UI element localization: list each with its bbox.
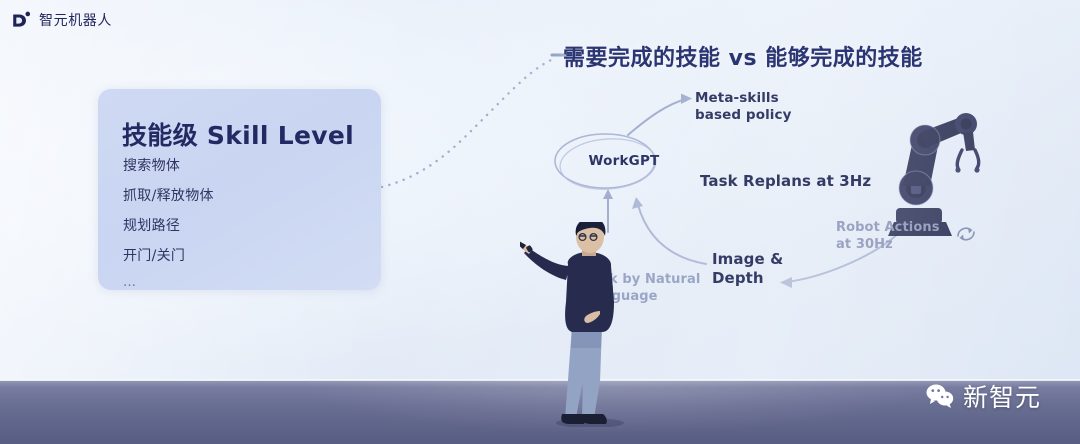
label-task-replans: Task Replans at 3Hz: [700, 172, 871, 191]
skill-item: 规划路径: [123, 215, 214, 235]
label-meta-skills-policy: Meta-skills based policy: [695, 90, 815, 125]
wechat-logo-icon: [925, 383, 955, 409]
skill-level-card: 技能级 Skill Level 搜索物体 抓取/释放物体 规划路径 开门/关门 …: [98, 89, 381, 290]
skill-item: 开门/关门: [123, 245, 214, 265]
skill-item: 抓取/释放物体: [123, 185, 214, 205]
skill-item-ellipsis: …: [123, 275, 214, 290]
brand-name: 智元机器人: [39, 10, 112, 30]
brand-logo: 智元机器人: [10, 9, 112, 31]
workgpt-node-label: WorkGPT: [578, 153, 670, 169]
watermark-text: 新智元: [963, 378, 1041, 414]
label-image-depth: Image & Depth: [712, 250, 792, 288]
skill-card-title: 技能级 Skill Level: [122, 116, 354, 152]
presenter-figure: [520, 222, 650, 427]
skill-item: 搜索物体: [123, 155, 214, 175]
label-robot-actions: Robot Actions at 30Hz: [836, 220, 946, 253]
slide-presentation-scene: 智元机器人 技能级 Skill Level 搜索物体 抓取/释放物体 规划路径 …: [0, 0, 1080, 444]
agibot-d-mark-icon: [10, 9, 32, 31]
slide-headline: 需要完成的技能 vs 能够完成的技能: [563, 40, 923, 72]
skill-card-list: 搜索物体 抓取/释放物体 规划路径 开门/关门 …: [123, 155, 214, 300]
channel-watermark: 新智元: [925, 378, 1041, 414]
